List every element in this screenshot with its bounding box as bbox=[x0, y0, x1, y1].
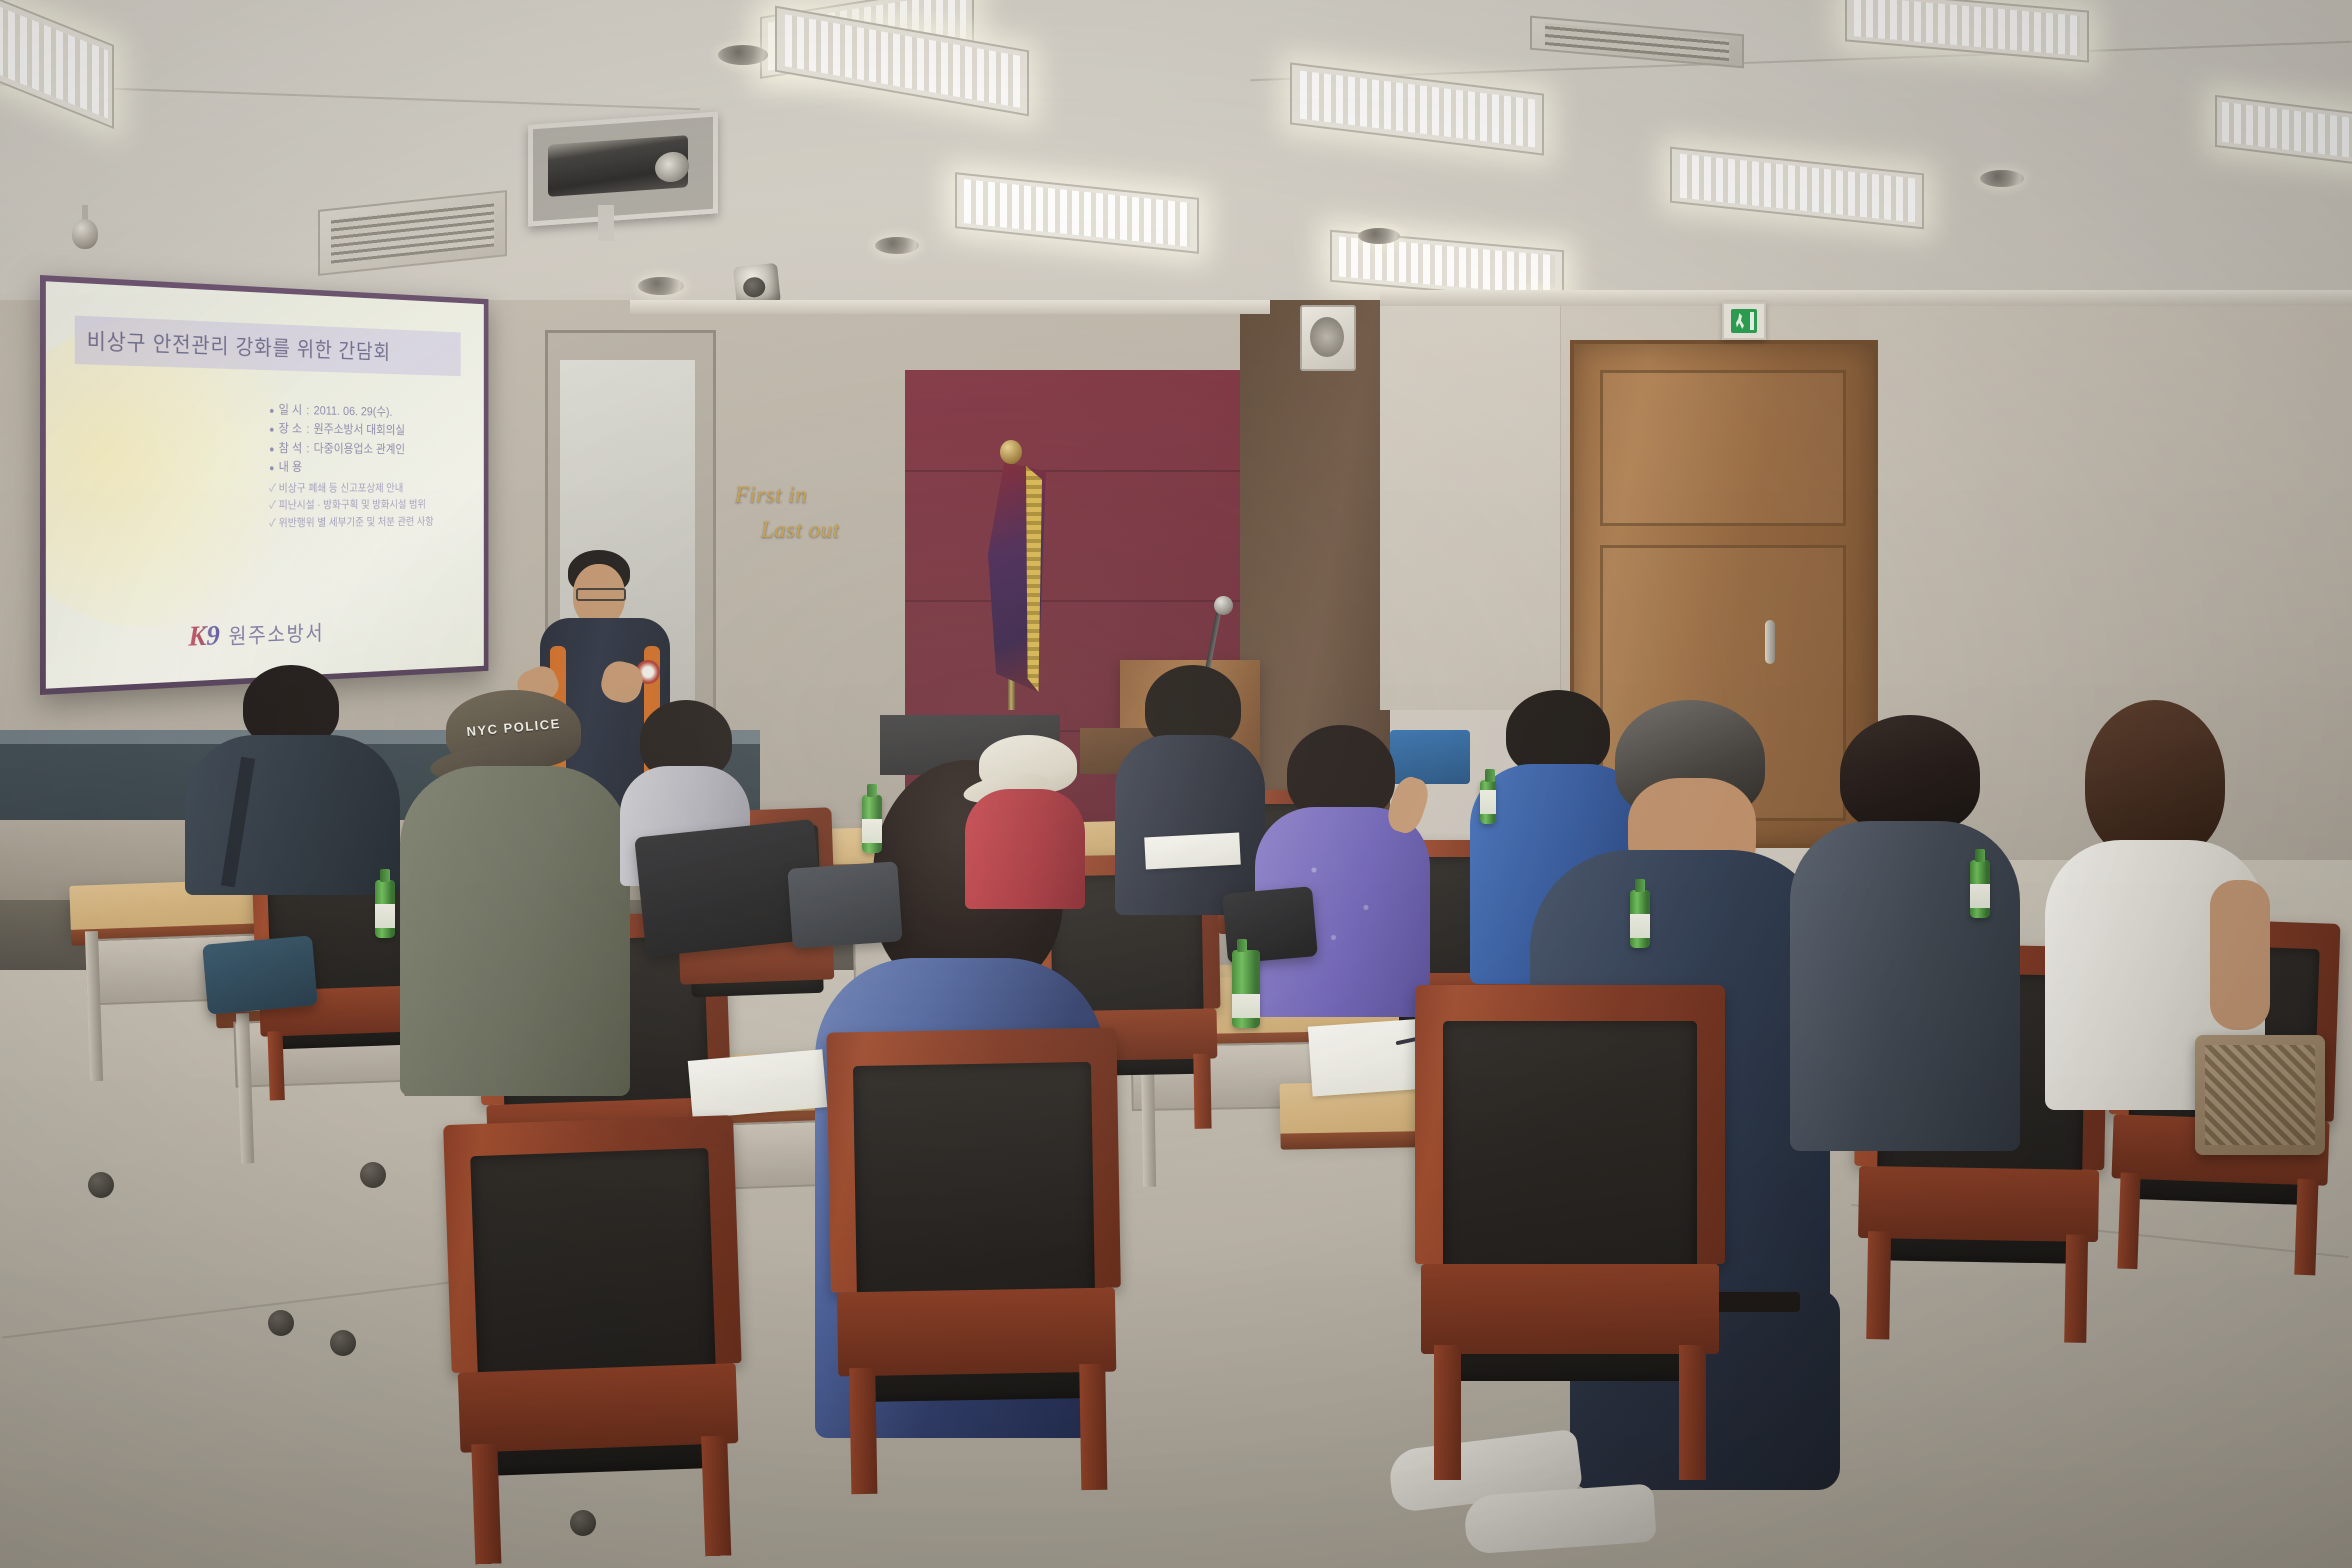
wall-trim bbox=[1380, 290, 2352, 306]
attendee-arm bbox=[2210, 880, 2270, 1030]
k9-logo-icon: K9 bbox=[188, 620, 219, 654]
slide-bullet-label: 참 석 bbox=[279, 439, 303, 458]
slide-bullet-value: 다중이용업소 관계인 bbox=[314, 439, 405, 458]
flag-finial bbox=[1000, 440, 1022, 464]
ceiling-downlight bbox=[1358, 228, 1400, 244]
slide-sub-bullet-list: 비상구 폐쇄 등 신고포상제 안내 피난시설 · 방화구획 및 방화시설 범위 … bbox=[269, 480, 484, 532]
seminar-room-photo: First in Last out 비상구 안전관리 강화를 위한 간담회 ● … bbox=[0, 0, 2352, 1568]
bullet-dot-icon: ● bbox=[269, 442, 274, 457]
slide-bullet-label: 일 시 bbox=[279, 401, 303, 420]
handbag-pattern bbox=[2205, 1045, 2315, 1145]
ceiling-downlight bbox=[875, 237, 919, 254]
beverage-bottle bbox=[375, 880, 395, 938]
slide-sub-bullet: 피난시설 · 방화구획 및 방화시설 범위 bbox=[269, 497, 484, 515]
beverage-bottle bbox=[1232, 950, 1260, 1028]
slide-bullet-list: ● 일 시 : 2011. 06. 29(수). ● 장 소 : 원주소방서 대… bbox=[269, 401, 484, 533]
attendee-torso bbox=[1115, 735, 1265, 915]
projector-mount bbox=[598, 205, 614, 241]
attendee-hair bbox=[2085, 700, 2225, 860]
slide-bullet: ● 참 석 : 다중이용업소 관계인 bbox=[269, 438, 484, 459]
ceiling-downlight bbox=[1980, 170, 2024, 187]
attendee-back-left bbox=[185, 665, 400, 865]
emergency-exit-sign-icon bbox=[1722, 302, 1766, 340]
blue-bag bbox=[202, 935, 318, 1014]
chair-foreground[interactable] bbox=[826, 1028, 1123, 1453]
handout-paper bbox=[688, 1049, 828, 1119]
slide-bullet: ● 내 용 bbox=[269, 457, 484, 476]
handout-paper bbox=[1144, 833, 1241, 870]
table-caster bbox=[360, 1162, 386, 1188]
ceiling-downlight bbox=[718, 45, 768, 65]
door-panel-upper bbox=[1600, 370, 1846, 526]
table-caster bbox=[88, 1172, 114, 1198]
attendee-hair bbox=[1840, 715, 1980, 833]
attendee-right-second bbox=[1790, 715, 2020, 1135]
eyeglasses-icon bbox=[576, 588, 626, 601]
beverage-bottle bbox=[1970, 860, 1990, 918]
bullet-dot-icon: ● bbox=[269, 461, 274, 476]
slide-sub-bullet: 위반행위 별 세부기준 및 처분 관련 사항 bbox=[269, 513, 484, 532]
screen-surface: 비상구 안전관리 강화를 위한 간담회 ● 일 시 : 2011. 06. 29… bbox=[46, 281, 484, 688]
bullet-dot-icon: ● bbox=[269, 404, 274, 419]
attendee-white-cap bbox=[955, 735, 1085, 905]
gray-bag bbox=[787, 861, 902, 948]
attendee-torso bbox=[185, 735, 400, 895]
attendee-torso bbox=[400, 766, 630, 1096]
bullet-colon: : bbox=[306, 420, 309, 439]
wall-trim bbox=[630, 300, 1270, 314]
slide-bullet-label: 장 소 bbox=[279, 420, 303, 439]
sprinkler-head bbox=[72, 205, 98, 249]
wall-motto-line2: Last out bbox=[761, 513, 885, 548]
door-handle[interactable] bbox=[1765, 620, 1775, 664]
table-caster bbox=[330, 1330, 356, 1356]
wall-motto-text: First in Last out bbox=[735, 478, 885, 562]
wall-motto-line1: First in bbox=[735, 478, 885, 513]
attendee-cap-wearer: NYC POLICE bbox=[400, 690, 630, 1110]
chair-foreground[interactable] bbox=[443, 1115, 747, 1525]
bullet-colon: : bbox=[306, 439, 309, 458]
projection-screen: 비상구 안전관리 강화를 위한 간담회 ● 일 시 : 2011. 06. 29… bbox=[40, 275, 488, 695]
slide-logo-text: 원주소방서 bbox=[229, 617, 325, 651]
slide-title: 비상구 안전관리 강화를 위한 간담회 bbox=[87, 324, 391, 366]
chair-foreground[interactable] bbox=[1415, 985, 1725, 1435]
slide-bullet-value: 2011. 06. 29(수). bbox=[314, 402, 393, 422]
beverage-bottle bbox=[1630, 890, 1650, 948]
slide-bullet-label: 내 용 bbox=[279, 457, 303, 476]
wall-speaker bbox=[1300, 305, 1356, 371]
microphone-icon bbox=[1214, 596, 1233, 615]
ceiling-downlight bbox=[638, 277, 684, 295]
slide-logo: K9 원주소방서 bbox=[188, 616, 324, 654]
slide-bullet-value: 원주소방서 대회의실 bbox=[314, 420, 405, 440]
beverage-bottle bbox=[862, 795, 882, 853]
attendee-torso bbox=[965, 789, 1085, 909]
bullet-dot-icon: ● bbox=[269, 423, 274, 438]
table-caster bbox=[268, 1310, 294, 1336]
bullet-colon: : bbox=[306, 401, 309, 420]
slide-sub-bullet: 비상구 폐쇄 등 신고포상제 안내 bbox=[269, 480, 484, 497]
beverage-bottle bbox=[1480, 780, 1496, 824]
